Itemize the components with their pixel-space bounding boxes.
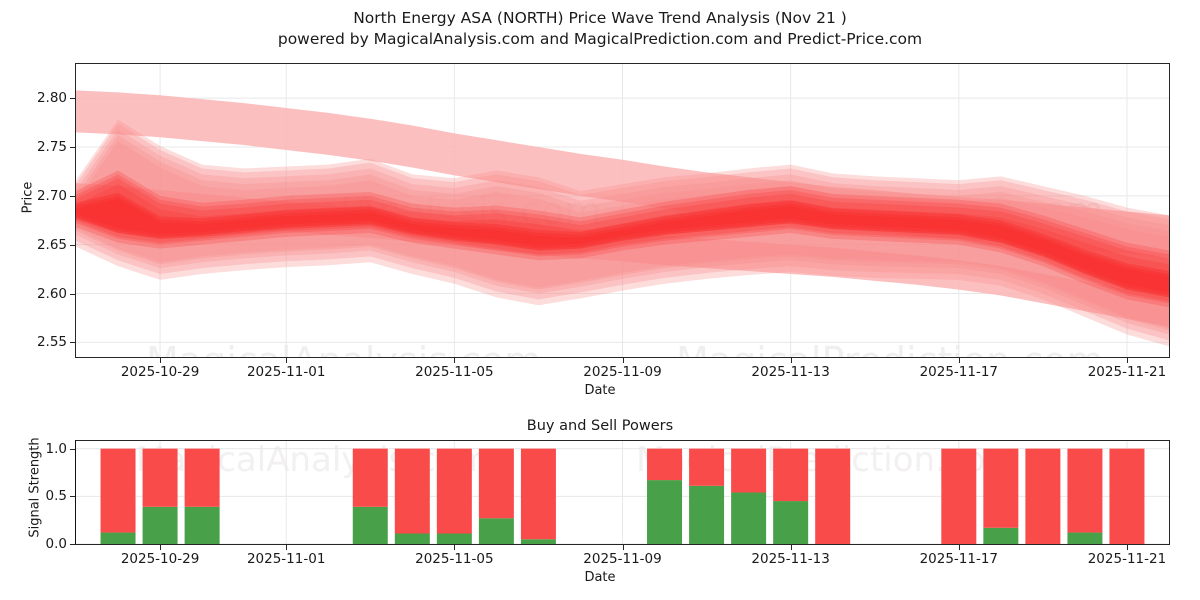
top-x-tick-mark bbox=[623, 358, 624, 363]
bar-segment-sell-power bbox=[941, 449, 976, 544]
top-y-axis-label: Price bbox=[21, 168, 36, 228]
buy-sell-powers-panel: MagicalAnalysis.comMagicalPrediction.com bbox=[75, 440, 1170, 545]
bar-segment-sell-power bbox=[1109, 449, 1144, 544]
bar-segment-buy-power bbox=[101, 533, 136, 544]
bar-segment-sell-power bbox=[1067, 449, 1102, 533]
top-x-tick-label: 2025-11-13 bbox=[751, 364, 829, 380]
bar-segment-sell-power bbox=[143, 449, 178, 507]
bar-segment-buy-power bbox=[479, 518, 514, 544]
top-x-tick-label: 2025-11-21 bbox=[1088, 364, 1166, 380]
bar-segment-sell-power bbox=[731, 449, 766, 493]
bar-segment-buy-power bbox=[521, 539, 556, 544]
bottom-x-tick-mark bbox=[454, 545, 455, 550]
top-y-tick-label: 2.80 bbox=[5, 90, 67, 106]
bottom-x-tick-mark bbox=[286, 545, 287, 550]
bottom-x-tick-label: 2025-11-17 bbox=[920, 551, 998, 567]
top-y-tick-label: 2.55 bbox=[5, 334, 67, 350]
bar-segment-buy-power bbox=[647, 480, 682, 544]
top-x-tick-mark bbox=[791, 358, 792, 363]
top-x-tick-label: 2025-11-09 bbox=[583, 364, 661, 380]
bar-segment-sell-power bbox=[353, 449, 388, 507]
page-title: North Energy ASA (NORTH) Price Wave Tren… bbox=[0, 8, 1200, 29]
bottom-x-tick-label: 2025-11-13 bbox=[751, 551, 829, 567]
bottom-x-tick-label: 2025-11-01 bbox=[247, 551, 325, 567]
bottom-y-tick-mark bbox=[70, 496, 75, 497]
bottom-x-tick-mark bbox=[791, 545, 792, 550]
bottom-x-tick-mark bbox=[1127, 545, 1128, 550]
top-x-tick-label: 2025-11-17 bbox=[920, 364, 998, 380]
bar-segment-buy-power bbox=[185, 507, 220, 544]
price-wave-chart-panel: MagicalAnalysis.comMagicalPrediction.com… bbox=[75, 63, 1170, 358]
top-x-tick-mark bbox=[959, 358, 960, 363]
watermark-text: MagicalPrediction.com bbox=[676, 339, 1104, 357]
bar-segment-sell-power bbox=[773, 449, 808, 501]
top-x-tick-mark bbox=[454, 358, 455, 363]
bottom-y-axis-label: Signal Strength bbox=[28, 418, 43, 558]
top-y-tick-mark bbox=[70, 196, 75, 197]
bottom-x-tick-label: 2025-10-29 bbox=[121, 551, 199, 567]
top-x-tick-mark bbox=[1127, 358, 1128, 363]
bottom-x-tick-label: 2025-11-09 bbox=[583, 551, 661, 567]
price-wave-svg: MagicalAnalysis.comMagicalPrediction.com… bbox=[76, 64, 1169, 357]
top-x-tick-label: 2025-11-05 bbox=[415, 364, 493, 380]
bar-segment-sell-power bbox=[185, 449, 220, 507]
bar-segment-sell-power bbox=[521, 449, 556, 540]
top-y-tick-mark bbox=[70, 147, 75, 148]
bottom-y-tick-mark bbox=[70, 544, 75, 545]
bar-segment-sell-power bbox=[479, 449, 514, 519]
top-y-tick-label: 2.65 bbox=[5, 237, 67, 253]
top-x-tick-mark bbox=[160, 358, 161, 363]
bar-segment-buy-power bbox=[773, 501, 808, 544]
bar-segment-sell-power bbox=[815, 449, 850, 544]
top-x-tick-mark bbox=[286, 358, 287, 363]
bar-segment-buy-power bbox=[395, 534, 430, 544]
bar-segment-sell-power bbox=[1025, 449, 1060, 544]
title-block: North Energy ASA (NORTH) Price Wave Tren… bbox=[0, 8, 1200, 50]
bar-segment-buy-power bbox=[689, 486, 724, 544]
chart-page: North Energy ASA (NORTH) Price Wave Tren… bbox=[0, 0, 1200, 600]
bar-segment-buy-power bbox=[731, 493, 766, 545]
bar-segment-sell-power bbox=[983, 449, 1018, 528]
watermark-text: MagicalAnalysis.com bbox=[146, 339, 541, 357]
top-y-tick-label: 2.75 bbox=[5, 139, 67, 155]
bar-segment-buy-power bbox=[1067, 533, 1102, 544]
bar-segment-sell-power bbox=[647, 449, 682, 480]
top-x-tick-label: 2025-10-29 bbox=[121, 364, 199, 380]
bottom-x-tick-mark bbox=[623, 545, 624, 550]
bottom-chart-title: Buy and Sell Powers bbox=[0, 418, 1200, 434]
bar-segment-buy-power bbox=[437, 534, 472, 544]
bar-segment-buy-power bbox=[983, 528, 1018, 544]
bottom-x-tick-mark bbox=[160, 545, 161, 550]
bar-segment-sell-power bbox=[101, 449, 136, 533]
bar-segment-buy-power bbox=[143, 507, 178, 544]
top-x-axis-label: Date bbox=[0, 383, 1200, 398]
top-y-tick-mark bbox=[70, 98, 75, 99]
bottom-x-axis-label: Date bbox=[0, 570, 1200, 585]
bottom-y-tick-mark bbox=[70, 449, 75, 450]
top-y-tick-mark bbox=[70, 342, 75, 343]
top-y-tick-label: 2.60 bbox=[5, 286, 67, 302]
bottom-x-tick-mark bbox=[959, 545, 960, 550]
bar-segment-sell-power bbox=[395, 449, 430, 534]
bar-segment-sell-power bbox=[689, 449, 724, 486]
bottom-x-tick-label: 2025-11-05 bbox=[415, 551, 493, 567]
top-y-tick-mark bbox=[70, 294, 75, 295]
buy-sell-powers-svg: MagicalAnalysis.comMagicalPrediction.com bbox=[76, 441, 1169, 544]
bar-segment-buy-power bbox=[353, 507, 388, 544]
bottom-x-tick-label: 2025-11-21 bbox=[1088, 551, 1166, 567]
bar-segment-sell-power bbox=[437, 449, 472, 534]
top-y-tick-label: 2.70 bbox=[5, 188, 67, 204]
page-subtitle: powered by MagicalAnalysis.com and Magic… bbox=[0, 29, 1200, 50]
top-x-tick-label: 2025-11-01 bbox=[247, 364, 325, 380]
top-y-tick-mark bbox=[70, 245, 75, 246]
